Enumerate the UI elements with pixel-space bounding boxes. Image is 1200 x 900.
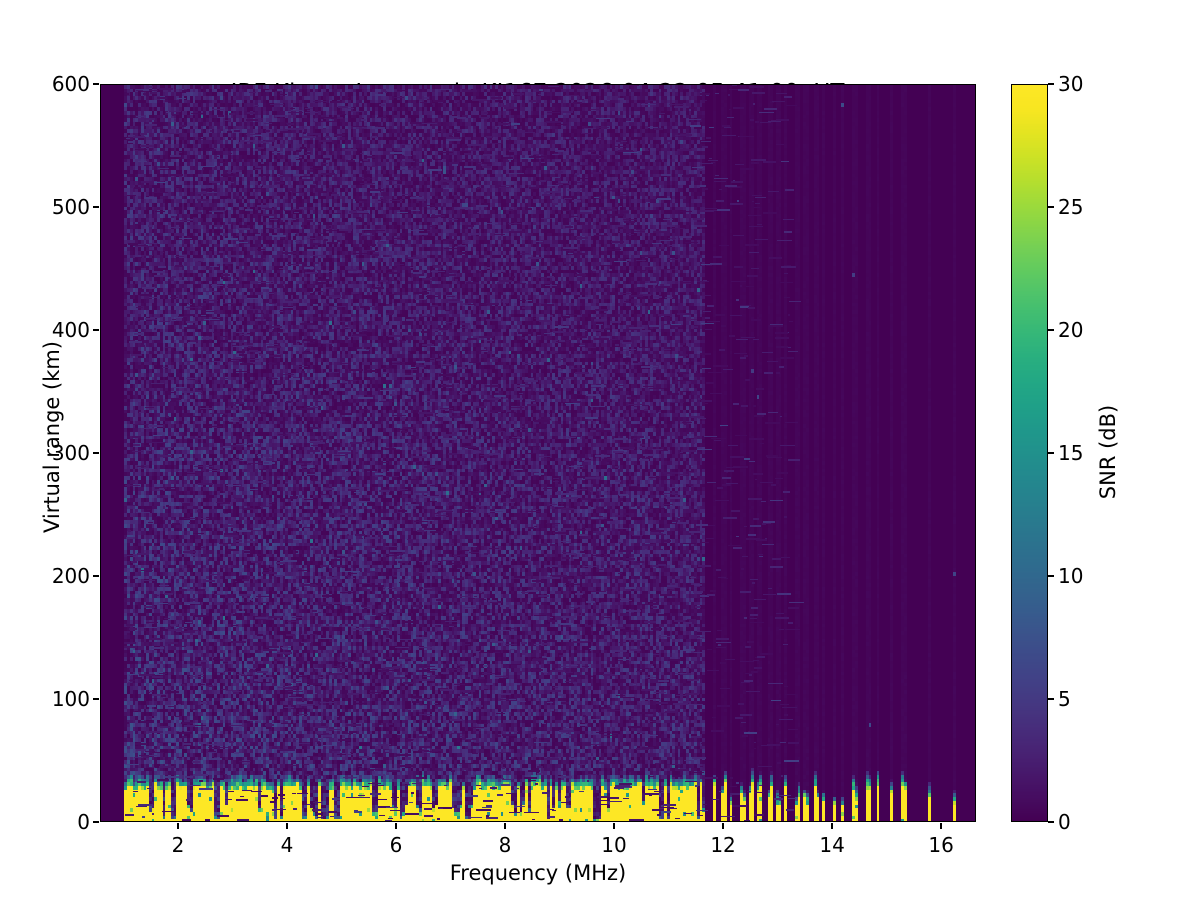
x-tick-mark [177,823,178,829]
x-tick-label: 4 [257,833,317,857]
y-tick-label: 400 [10,320,90,340]
x-tick-label: 8 [475,833,535,857]
ionogram-plot-area[interactable] [100,84,976,822]
colorbar-tick-mark [1048,575,1054,576]
y-tick-label: 300 [10,443,90,463]
colorbar-tick-mark [1048,821,1054,822]
x-tick-label: 12 [693,833,753,857]
y-tick-label: 0 [10,812,90,832]
colorbar-tick-label: 15 [1058,443,1083,463]
y-tick-mark [93,821,99,822]
colorbar-tick-mark [1048,698,1054,699]
colorbar-tick-label: 30 [1058,74,1083,94]
y-tick-mark [93,206,99,207]
x-tick-mark [831,823,832,829]
x-tick-mark [940,823,941,829]
colorbar-tick-label: 5 [1058,689,1071,709]
ionogram-figure: IRF Kiruna Ionosonde KI167 2026-04-22 05… [0,0,1200,900]
colorbar-tick-label: 0 [1058,812,1071,832]
x-tick-mark [286,823,287,829]
colorbar-tick-mark [1048,452,1054,453]
colorbar-tick-label: 10 [1058,566,1083,586]
colorbar-gradient [1012,85,1047,821]
x-tick-mark [504,823,505,829]
y-tick-label: 200 [10,566,90,586]
y-tick-mark [93,452,99,453]
y-tick-label: 500 [10,197,90,217]
colorbar-tick-mark [1048,206,1054,207]
y-tick-mark [93,329,99,330]
x-tick-label: 2 [148,833,208,857]
y-tick-label: 100 [10,689,90,709]
x-tick-label: 6 [366,833,426,857]
y-tick-mark [93,698,99,699]
x-tick-label: 16 [911,833,971,857]
x-tick-mark [613,823,614,829]
x-tick-label: 14 [802,833,862,857]
y-tick-label: 600 [10,74,90,94]
x-tick-mark [722,823,723,829]
colorbar-label: SNR (dB) [1096,232,1120,672]
x-tick-label: 10 [584,833,644,857]
x-axis-label: Frequency (MHz) [100,861,976,885]
ionogram-heatmap-canvas[interactable] [101,85,976,822]
y-tick-mark [93,83,99,84]
y-tick-mark [93,575,99,576]
y-axis-label: Virtual range (km) [40,177,64,697]
colorbar-tick-mark [1048,329,1054,330]
colorbar-tick-mark [1048,83,1054,84]
x-tick-mark [395,823,396,829]
colorbar-tick-label: 20 [1058,320,1083,340]
colorbar[interactable] [1011,84,1048,822]
colorbar-tick-label: 25 [1058,197,1083,217]
